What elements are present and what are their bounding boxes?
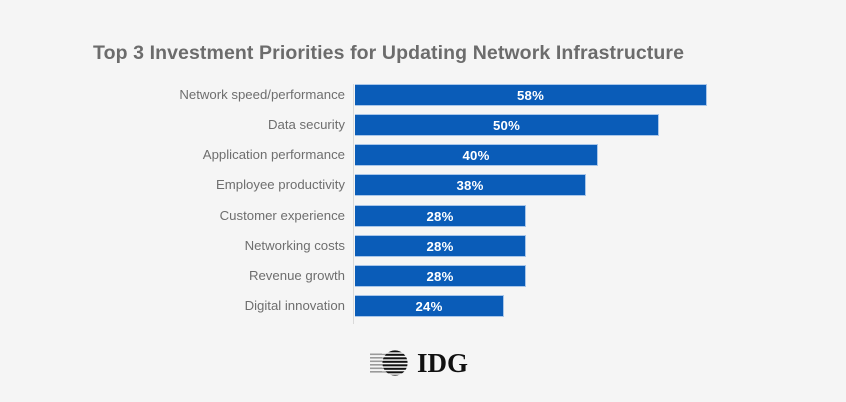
bar-category-label: Digital innovation — [0, 297, 345, 315]
bar-track: 28% — [355, 235, 526, 257]
chart-title: Top 3 Investment Priorities for Updating… — [93, 42, 684, 65]
bar-value-label: 28% — [355, 266, 525, 288]
bar-track: 40% — [355, 144, 598, 166]
bar-chart-plot-area: Network speed/performance 58% Data secur… — [0, 84, 846, 328]
bar-row: Application performance 40% — [0, 144, 846, 166]
bar-track: 38% — [355, 174, 586, 196]
bar-value-label: 58% — [355, 85, 706, 107]
bar-row: Network speed/performance 58% — [0, 84, 846, 106]
bar-category-label: Customer experience — [0, 207, 345, 225]
bar-category-label: Application performance — [0, 146, 345, 164]
bar-value-label: 28% — [355, 206, 525, 228]
bar-value-label: 28% — [355, 236, 525, 258]
bar-row: Digital innovation 24% — [0, 295, 846, 317]
bar-fill[interactable]: 38% — [355, 174, 586, 196]
chart-card: Top 3 Investment Priorities for Updating… — [0, 0, 846, 402]
bar-row: Networking costs 28% — [0, 235, 846, 257]
bar-category-label: Networking costs — [0, 237, 345, 255]
bar-fill[interactable]: 50% — [355, 114, 659, 136]
bar-category-label: Network speed/performance — [0, 86, 345, 104]
bar-fill[interactable]: 40% — [355, 144, 598, 166]
bar-row: Employee productivity 38% — [0, 174, 846, 196]
idg-globe-icon — [370, 349, 416, 377]
bar-fill[interactable]: 28% — [355, 235, 526, 257]
bar-value-label: 40% — [355, 145, 597, 167]
bar-row: Data security 50% — [0, 114, 846, 136]
bar-fill[interactable]: 58% — [355, 84, 707, 106]
bar-row: Revenue growth 28% — [0, 265, 846, 287]
idg-logo-text: IDG — [417, 349, 468, 377]
bar-category-label: Revenue growth — [0, 267, 345, 285]
bar-track: 28% — [355, 265, 526, 287]
bar-category-label: Employee productivity — [0, 176, 345, 194]
bar-track: 28% — [355, 205, 526, 227]
bar-value-label: 50% — [355, 115, 658, 137]
bar-category-label: Data security — [0, 116, 345, 134]
bar-track: 24% — [355, 295, 504, 317]
bar-fill[interactable]: 24% — [355, 295, 504, 317]
bar-value-label: 38% — [355, 175, 585, 197]
bar-row: Customer experience 28% — [0, 205, 846, 227]
bar-track: 50% — [355, 114, 659, 136]
bar-fill[interactable]: 28% — [355, 265, 526, 287]
bar-track: 58% — [355, 84, 707, 106]
idg-logo: IDG — [370, 348, 478, 378]
bar-value-label: 24% — [355, 296, 503, 318]
bar-fill[interactable]: 28% — [355, 205, 526, 227]
